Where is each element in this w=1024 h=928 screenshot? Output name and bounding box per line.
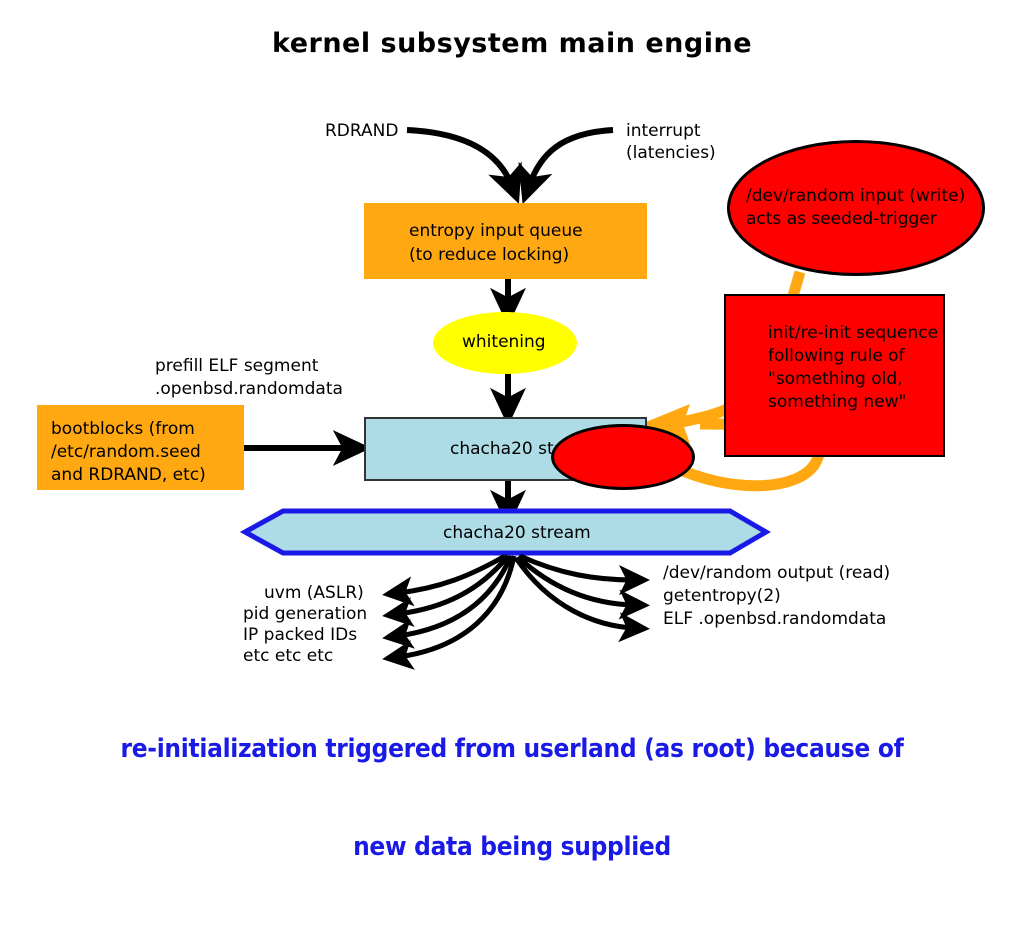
- output-left-line1: uvm (ASLR): [264, 583, 364, 604]
- output-right-line1: /dev/random output (read): [663, 563, 890, 584]
- output-left-line2: pid generation: [243, 604, 367, 625]
- diagram-canvas: kernel subsystem main engine: [0, 0, 1024, 768]
- footer-caption-line1: re-initialization triggered from userlan…: [0, 733, 1024, 766]
- footer-caption: re-initialization triggered from userlan…: [0, 668, 1024, 928]
- output-left-line3: IP packed IDs: [243, 625, 357, 646]
- output-right-line3: ELF .openbsd.randomdata: [663, 609, 886, 630]
- arrow-output-right-1: [520, 556, 634, 580]
- output-arrows-layer: [0, 0, 1024, 768]
- footer-caption-line2: new data being supplied: [0, 831, 1024, 864]
- output-right-line2: getentropy(2): [663, 586, 781, 607]
- output-left-line4: etc etc etc: [243, 646, 333, 667]
